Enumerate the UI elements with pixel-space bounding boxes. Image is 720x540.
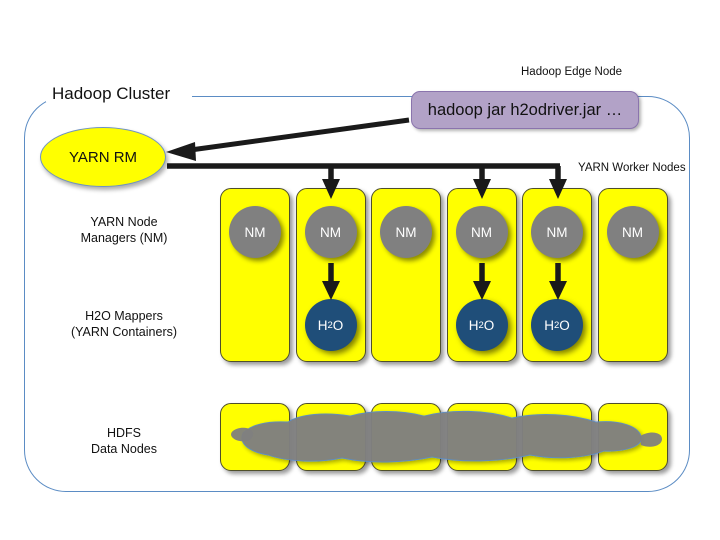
worker-node-5-node-manager[interactable]: NM	[531, 206, 583, 258]
worker-node-4-h2o-mapper[interactable]: H2O	[456, 299, 508, 351]
cluster-title: Hadoop Cluster	[52, 84, 170, 104]
worker-node-5-data-node-box[interactable]	[522, 403, 592, 471]
worker-node-2-h2o-mapper[interactable]: H2O	[305, 299, 357, 351]
worker-node-5-h2o-mapper[interactable]: H2O	[531, 299, 583, 351]
worker-node-2-data-node-box[interactable]	[296, 403, 366, 471]
worker-node-1-data-node-box[interactable]	[220, 403, 290, 471]
worker-node-2-node-manager[interactable]: NM	[305, 206, 357, 258]
row-label-h2o-mappers-line1: H2O Mappers	[34, 308, 214, 324]
worker-node-6-data-node-box[interactable]	[598, 403, 668, 471]
yarn-rm-label: YARN RM	[69, 149, 137, 166]
worker-node-3-node-manager[interactable]: NM	[380, 206, 432, 258]
worker-node-4-node-manager[interactable]: NM	[456, 206, 508, 258]
row-label-node-managers: YARN Node Managers (NM)	[34, 214, 214, 246]
edge-node-command-text: hadoop jar h2odriver.jar …	[428, 101, 622, 120]
row-label-node-managers-line1: YARN Node	[34, 214, 214, 230]
worker-node-6-node-manager[interactable]: NM	[607, 206, 659, 258]
worker-node-3-data-node-box[interactable]	[371, 403, 441, 471]
edge-node-command-box[interactable]: hadoop jar h2odriver.jar …	[411, 91, 639, 129]
row-label-h2o-mappers-line2: (YARN Containers)	[34, 324, 214, 340]
yarn-resource-manager[interactable]: YARN RM	[40, 127, 166, 187]
worker-node-4-data-node-box[interactable]	[447, 403, 517, 471]
row-label-node-managers-line2: Managers (NM)	[34, 230, 214, 246]
row-label-h2o-mappers: H2O Mappers (YARN Containers)	[34, 308, 214, 340]
diagram-canvas: Hadoop Cluster Hadoop Edge Node YARN Wor…	[0, 0, 720, 540]
worker-nodes-label: YARN Worker Nodes	[578, 162, 686, 174]
worker-node-1-node-manager[interactable]: NM	[229, 206, 281, 258]
edge-node-label: Hadoop Edge Node	[521, 66, 622, 78]
